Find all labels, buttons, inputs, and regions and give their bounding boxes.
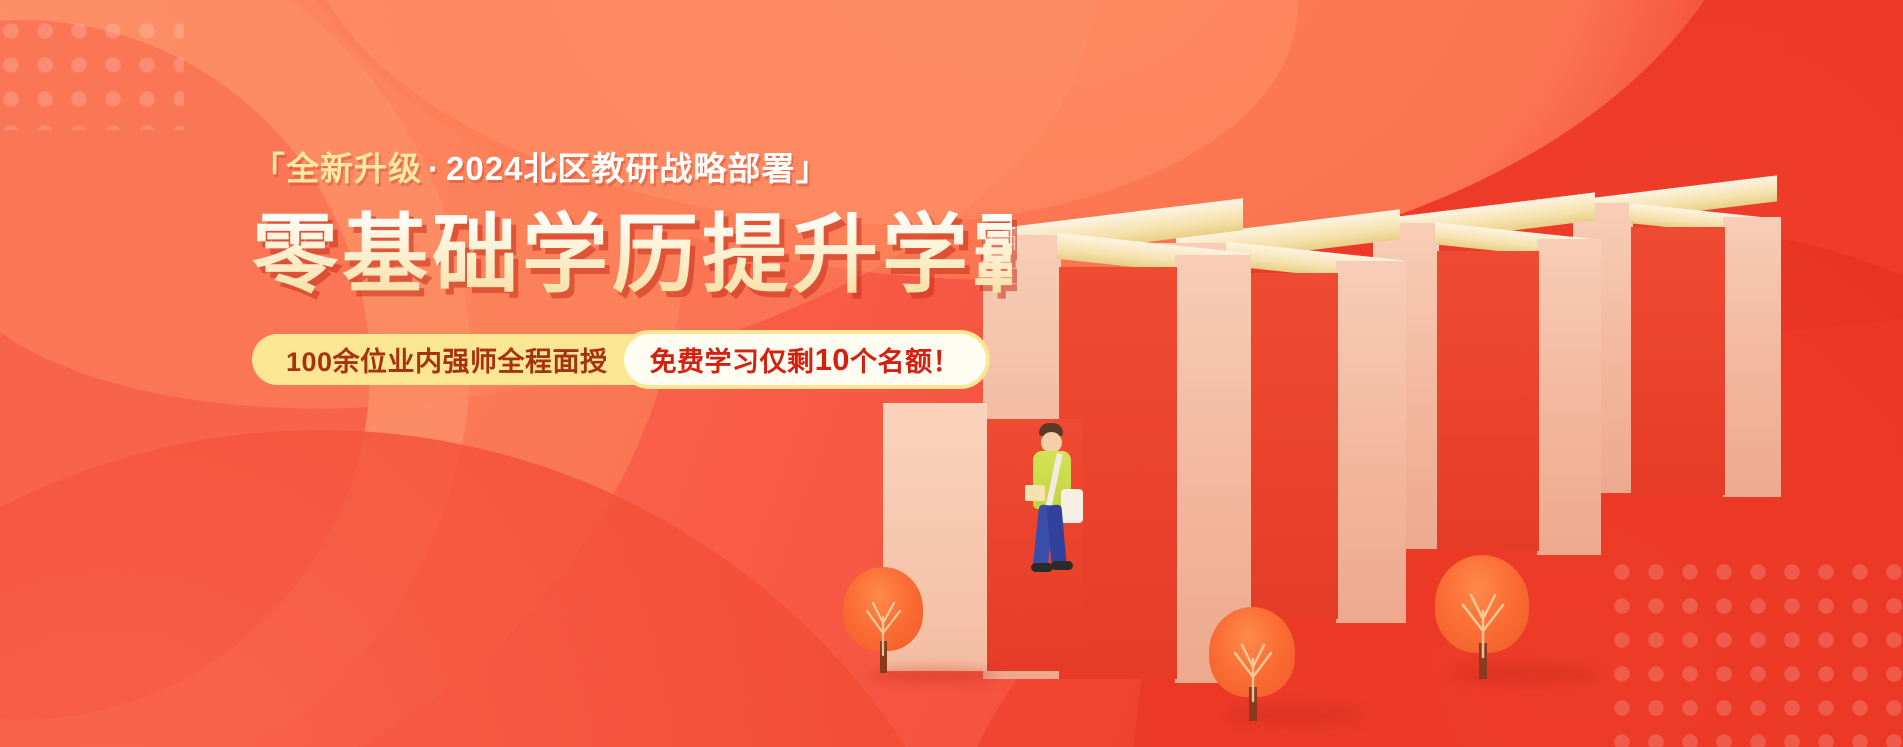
tree-middle (1209, 607, 1301, 725)
tree-branches-icon (843, 567, 929, 677)
book-4 (1573, 187, 1783, 497)
subtitle-highlight: 全新升级 (286, 150, 422, 187)
subtitle-bracket-close: 」 (795, 150, 829, 187)
person-book-held (1025, 485, 1045, 501)
badge-prefix: 免费学习仅剩 (650, 340, 815, 379)
person-shoe-back (1051, 561, 1073, 570)
tree-branches-icon (1209, 607, 1301, 725)
badge-teachers[interactable]: 100余位业内强师全程面授 (252, 334, 638, 385)
person-shoe-front (1031, 563, 1053, 572)
banner-headline: 零基础学历提升学霸班 (252, 209, 1012, 302)
banner-subtitle: 「全新升级·2024北区教研战略部署」 (252, 148, 1012, 189)
person-head (1041, 432, 1062, 453)
badge-slot-count: 10 (815, 342, 850, 378)
banner-badges: 100余位业内强师全程面授 免费学习仅剩10个名额！ (252, 334, 1012, 385)
tree-left (843, 567, 929, 677)
person-bag (1061, 489, 1083, 523)
subtitle-bracket-open: 「 (252, 150, 286, 187)
subtitle-separator-icon: · (422, 150, 446, 187)
banner-content: 「全新升级·2024北区教研战略部署」 零基础学历提升学霸班 100余位业内强师… (252, 148, 1012, 385)
badge-remaining-slots[interactable]: 免费学习仅剩10个名额！ (624, 334, 986, 385)
subtitle-white-text: 2024北区教研战略部署 (446, 150, 795, 187)
badge-suffix: 个名额！ (850, 340, 960, 379)
tree-branches-icon (1435, 555, 1535, 681)
walking-student-figure (1025, 423, 1091, 593)
promo-banner: 「全新升级·2024北区教研战略部署」 零基础学历提升学霸班 100余位业内强师… (0, 0, 1903, 747)
dot-grid-top-left-icon (0, 14, 184, 130)
tree-right (1435, 555, 1535, 681)
